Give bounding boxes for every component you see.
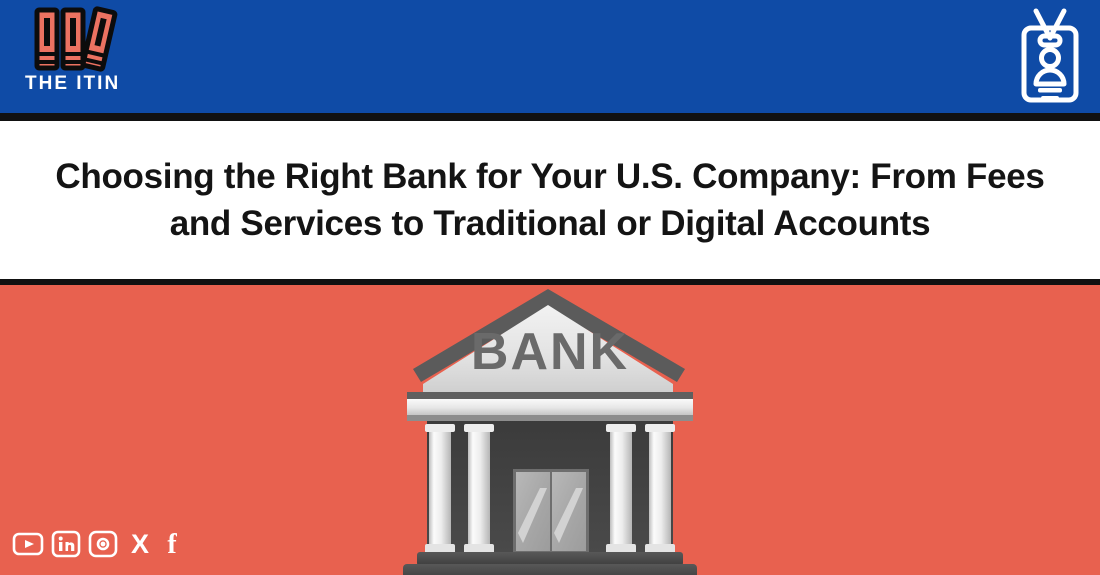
id-badge-icon: [1014, 6, 1086, 106]
page-title: Choosing the Right Bank for Your U.S. Co…: [28, 154, 1073, 247]
facebook-icon[interactable]: f: [162, 528, 182, 560]
svg-text:BANK: BANK: [471, 323, 629, 381]
brand-name: THE ITIN: [22, 74, 152, 93]
bank-building-illustration: BANK: [385, 285, 715, 575]
site-header: THE ITIN: [0, 0, 1100, 113]
youtube-icon[interactable]: [12, 529, 44, 559]
cover-page: THE ITIN: [0, 0, 1100, 575]
social-links: X f: [12, 527, 182, 561]
svg-text:X: X: [131, 529, 149, 559]
instagram-icon[interactable]: [88, 529, 118, 559]
linkedin-icon[interactable]: [51, 529, 81, 559]
header-divider: [0, 113, 1100, 121]
svg-text:f: f: [167, 529, 177, 560]
hero-section: BANK: [0, 285, 1100, 575]
three-books-icon: [29, 6, 125, 72]
brand-logo[interactable]: THE ITIN: [22, 6, 152, 106]
title-band: Choosing the Right Bank for Your U.S. Co…: [0, 121, 1100, 281]
x-twitter-icon[interactable]: X: [125, 528, 155, 560]
